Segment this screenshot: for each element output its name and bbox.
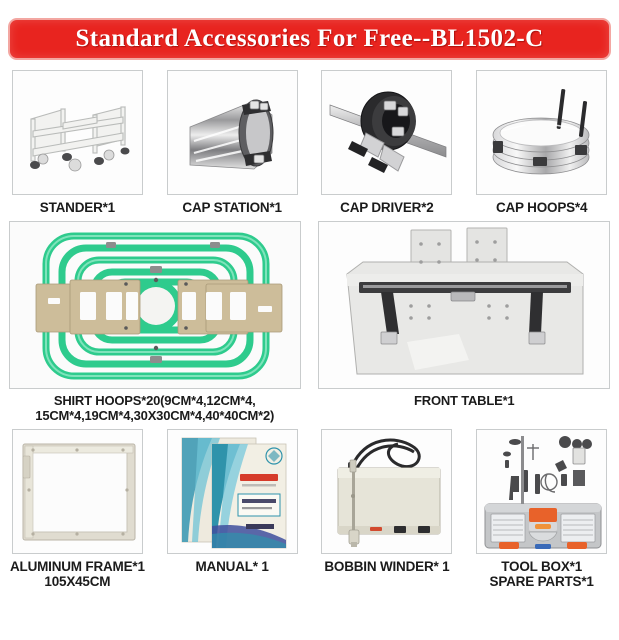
accessory-item-bobbin-winder: BOBBIN WINDER* 1 [310,429,465,590]
title-banner: Standard Accessories For Free--BL1502-C [8,18,611,60]
cap-station-caption: CAP STATION*1 [182,200,281,215]
aluminum-frame-caption: ALUMINUM FRAME*1 105X45CM [10,559,145,590]
accessories-infographic: Standard Accessories For Free--BL1502-C [0,0,619,640]
cap-station-image-frame [167,70,298,195]
manual-image-frame [167,429,298,554]
banner-container: Standard Accessories For Free--BL1502-C [0,0,619,66]
cap-hoops-image-frame [476,70,607,195]
stander-photo [13,71,143,195]
accessory-item-cap-driver: CAP DRIVER*2 [310,70,465,215]
front-table-caption: FRONT TABLE*1 [414,394,514,409]
tool-box-photo [477,430,607,554]
bobbin-winder-caption: BOBBIN WINDER* 1 [324,559,449,574]
front-table-photo [319,222,610,389]
cap-driver-caption: CAP DRIVER*2 [340,200,433,215]
accessory-item-stander: STANDER*1 [0,70,155,215]
accessory-item-shirt-hoops: SHIRT HOOPS*20(9CM*4,12CM*4, 15CM*4,19CM… [0,221,310,423]
manual-photo [168,430,298,554]
page-title: Standard Accessories For Free--BL1502-C [75,25,543,53]
tool-box-image-frame [476,429,607,554]
tool-box-caption: TOOL BOX*1 SPARE PARTS*1 [490,559,594,590]
accessory-row-1: STANDER*1 [0,70,619,215]
cap-driver-image-frame [321,70,452,195]
stander-caption: STANDER*1 [40,200,115,215]
cap-driver-photo [322,71,452,195]
accessory-row-2: SHIRT HOOPS*20(9CM*4,12CM*4, 15CM*4,19CM… [0,221,619,423]
accessory-item-tool-box: TOOL BOX*1 SPARE PARTS*1 [464,429,619,590]
accessory-item-aluminum-frame: ALUMINUM FRAME*1 105X45CM [0,429,155,590]
aluminum-frame-photo [13,430,143,554]
cap-hoops-caption: CAP HOOPS*4 [496,200,587,215]
shirt-hoops-photo [10,222,301,389]
accessory-item-cap-station: CAP STATION*1 [155,70,310,215]
bobbin-winder-photo [322,430,452,554]
accessory-item-manual: MANUAL* 1 [155,429,310,590]
bobbin-winder-image-frame [321,429,452,554]
shirt-hoops-caption: SHIRT HOOPS*20(9CM*4,12CM*4, 15CM*4,19CM… [35,394,274,423]
front-table-image-frame [318,221,610,389]
aluminum-frame-image-frame [12,429,143,554]
accessory-item-cap-hoops: CAP HOOPS*4 [464,70,619,215]
manual-caption: MANUAL* 1 [196,559,269,574]
stander-image-frame [12,70,143,195]
accessory-row-3: ALUMINUM FRAME*1 105X45CM [0,429,619,590]
cap-station-photo [168,71,298,195]
accessory-item-front-table: FRONT TABLE*1 [310,221,619,423]
shirt-hoops-image-frame [9,221,301,389]
cap-hoops-photo [477,71,607,195]
